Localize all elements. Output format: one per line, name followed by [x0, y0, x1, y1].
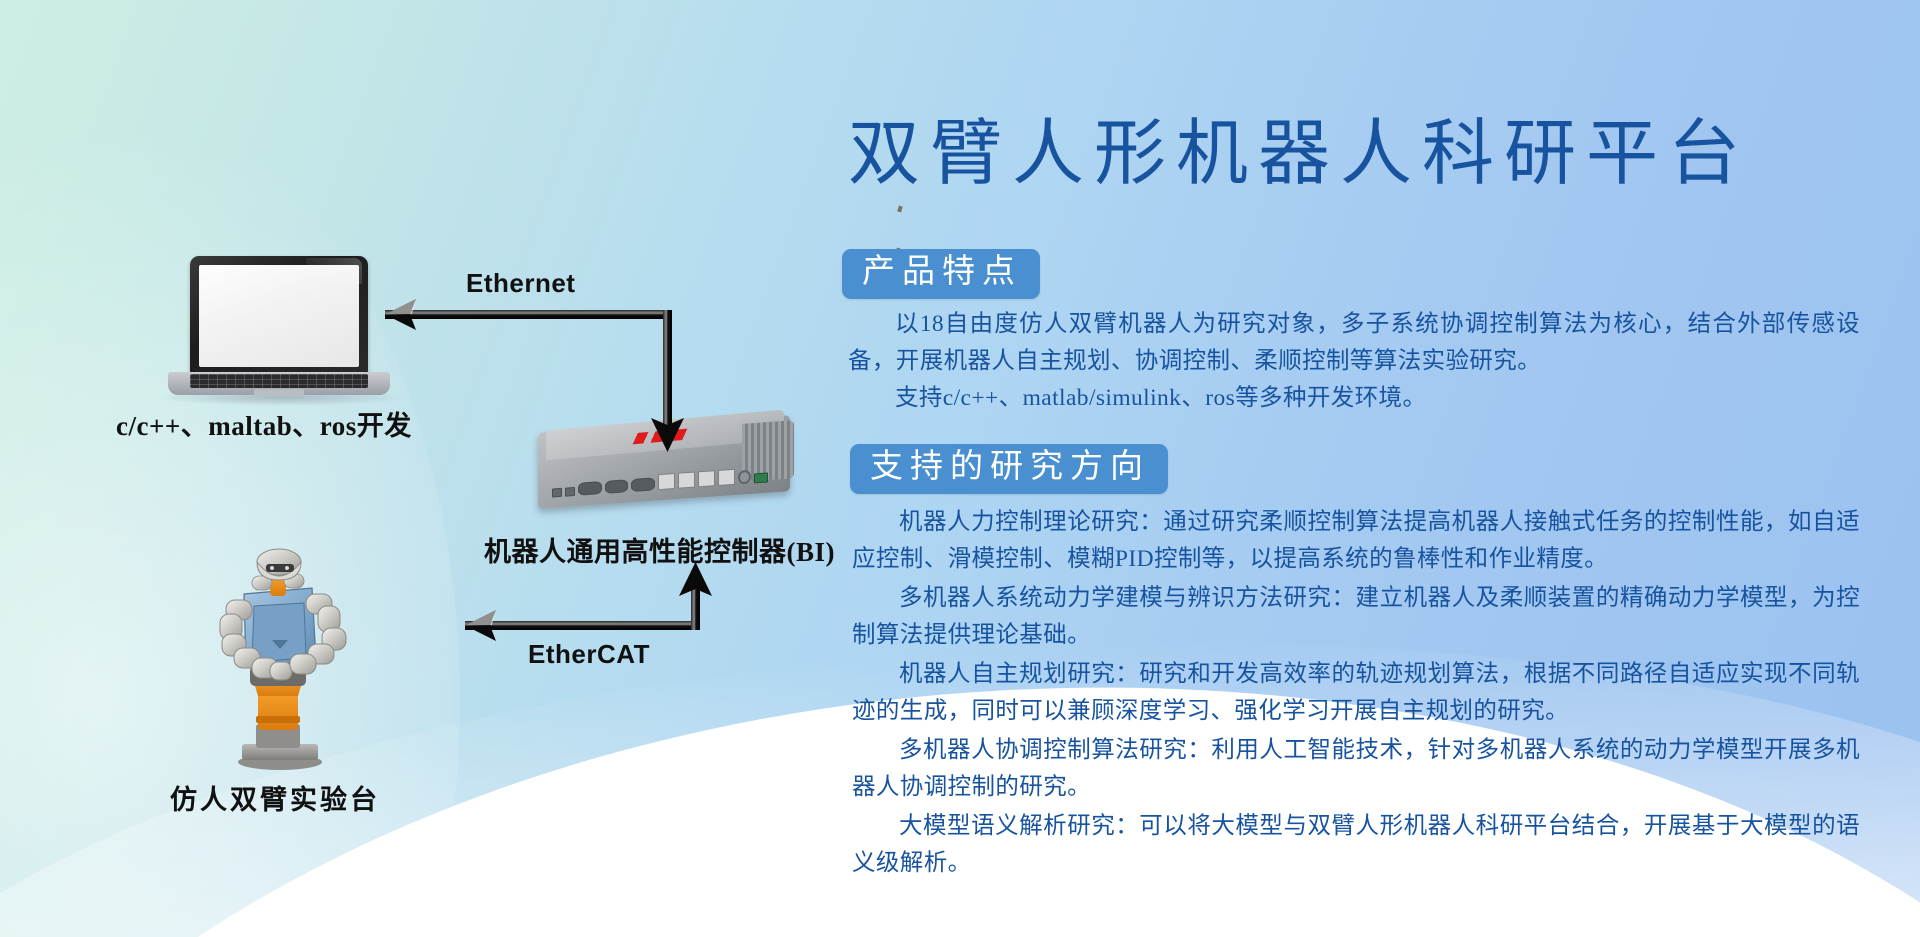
badge-product-features: 产品特点	[842, 249, 1040, 299]
features-paragraph-2: 支持c/c++、matlab/simulink、ros等多种开发环境。	[848, 380, 1860, 417]
poster-root: c/c++、maltab、ros开发 机器人通用高性能控制器(BI)	[0, 0, 1920, 937]
badge-research-directions: 支持的研究方向	[850, 444, 1168, 494]
ethernet-arrow	[385, 299, 684, 452]
page-title: 双臂人形机器人科研平台	[848, 118, 1908, 190]
features-paragraph-1: 以18自由度仿人双臂机器人为研究对象，多子系统协调控制算法为核心，结合外部传感设…	[848, 306, 1860, 380]
research-item: 机器人力控制理论研究：通过研究柔顺控制算法提高机器人接触式任务的控制性能，如自适…	[852, 504, 1860, 578]
system-diagram: c/c++、maltab、ros开发 机器人通用高性能控制器(BI)	[0, 0, 840, 937]
decorative-speck	[897, 206, 903, 213]
ethercat-arrow	[465, 562, 712, 641]
content-column: 双臂人形机器人科研平台 产品特点 以18自由度仿人双臂机器人为研究对象，多子系统…	[838, 0, 1920, 937]
ethernet-link-label: Ethernet	[466, 268, 575, 299]
research-item: 机器人自主规划研究：研究和开发高效率的轨迹规划算法，根据不同路径自适应实现不同轨…	[852, 656, 1860, 730]
research-directions-list: 机器人力控制理论研究：通过研究柔顺控制算法提高机器人接触式任务的控制性能，如自适…	[852, 504, 1860, 884]
ethercat-link-label: EtherCAT	[528, 639, 650, 670]
research-item: 多机器人系统动力学建模与辨识方法研究：建立机器人及柔顺装置的精确动力学模型，为控…	[852, 580, 1860, 654]
diagram-arrows	[0, 0, 840, 937]
research-item: 大模型语义解析研究：可以将大模型与双臂人形机器人科研平台结合，开展基于大模型的语…	[852, 808, 1860, 882]
research-item: 多机器人协调控制算法研究：利用人工智能技术，针对多机器人系统的动力学模型开展多机…	[852, 732, 1860, 806]
